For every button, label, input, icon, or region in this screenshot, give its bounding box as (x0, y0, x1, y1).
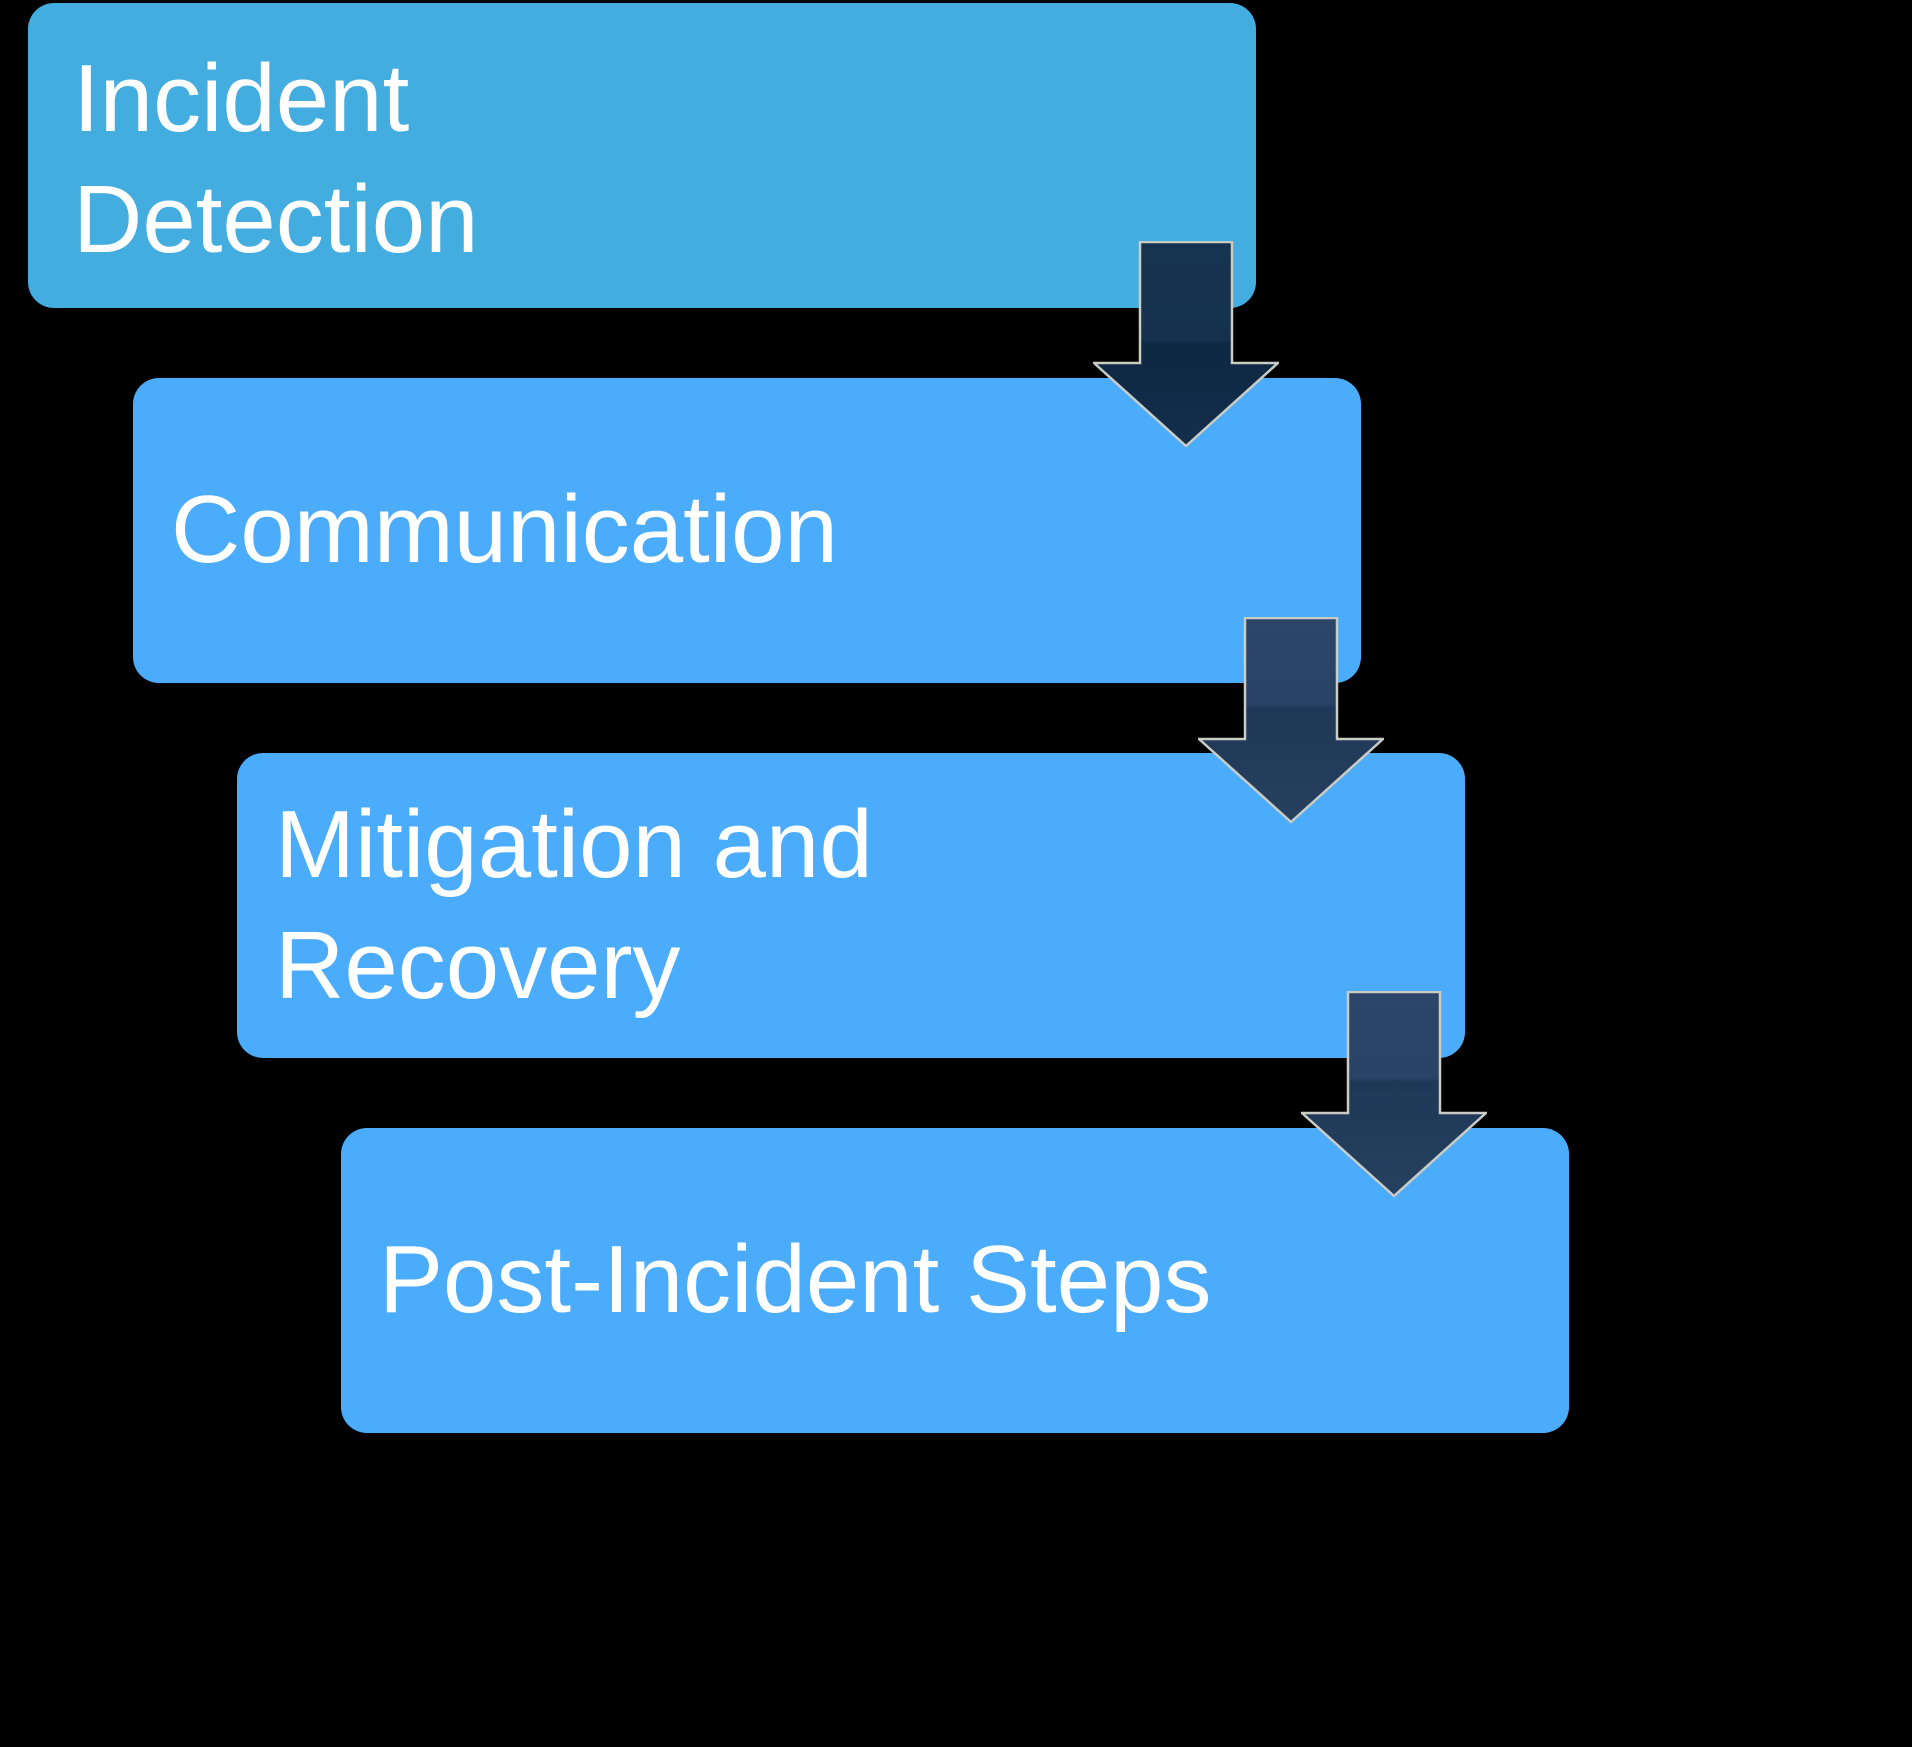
flow-step-label: Communication (171, 470, 1331, 591)
flow-diagram-canvas: Incident Detection Communication (0, 0, 1912, 1747)
flow-step-post-incident-steps[interactable]: Post-Incident Steps (341, 1128, 1569, 1433)
flow-step-label: Post-Incident Steps (379, 1220, 1539, 1341)
flow-step-communication[interactable]: Communication (133, 378, 1361, 683)
flow-step-incident-detection[interactable]: Incident Detection (28, 3, 1256, 308)
flow-step-label: Incident Detection (73, 39, 1226, 281)
flow-step-label: Mitigation and Recovery (275, 785, 1435, 1027)
flow-step-mitigation-and-recovery[interactable]: Mitigation and Recovery (237, 753, 1465, 1058)
